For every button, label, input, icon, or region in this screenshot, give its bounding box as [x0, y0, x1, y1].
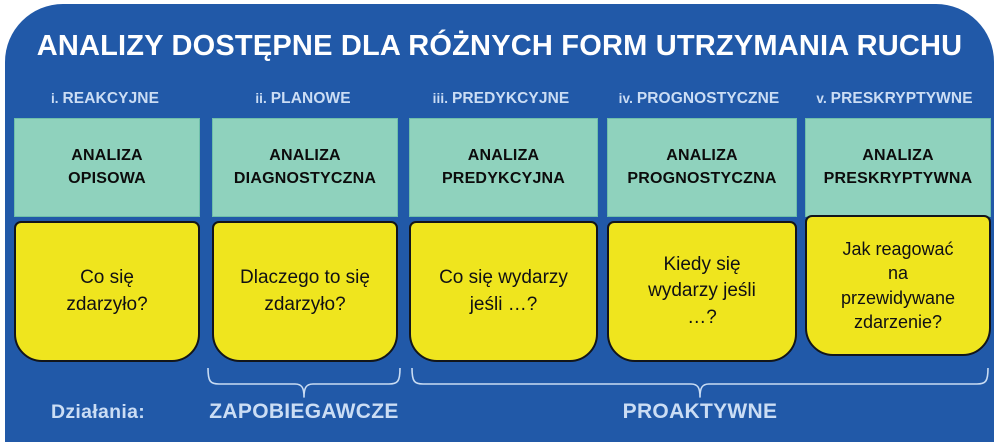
question-line-5a: Jak reagować: [842, 237, 953, 261]
analysis-label-4a: ANALIZA: [666, 145, 738, 168]
analysis-card-2: ANALIZA DIAGNOSTYCZNA: [212, 118, 398, 217]
analysis-label-5a: ANALIZA: [862, 145, 934, 168]
analysis-label-4b: PROGNOSTYCZNA: [627, 168, 776, 191]
question-line-1a: Co się: [80, 265, 134, 291]
brace-preventive: [205, 368, 403, 398]
analysis-box-3: ANALIZA PREDYKCYJNA: [409, 118, 598, 217]
question-card-1: Co się zdarzyło?: [14, 221, 200, 362]
footer-lead-label: Działania:: [51, 401, 145, 424]
column-headers: i. REAKCYJNE ii. PLANOWE iii. PREDYKCYJN…: [5, 90, 994, 114]
question-line-4a: Kiedy się: [663, 252, 740, 278]
column-numeral-3: iii.: [433, 91, 452, 106]
analysis-label-5b: PRESKRYPTYWNA: [824, 168, 973, 191]
analysis-box-4: ANALIZA PROGNOSTYCZNA: [607, 118, 797, 217]
column-header-3: iii. PREDYKCYJNE: [401, 90, 601, 108]
question-box-1: Co się zdarzyło?: [14, 221, 200, 362]
question-line-2a: Dlaczego to się: [240, 265, 370, 291]
question-line-4b: wydarzy jeśli: [648, 278, 756, 304]
footer-group-preventive: ZAPOBIEGAWCZE: [205, 400, 403, 424]
analysis-card-5: ANALIZA PRESKRYPTYWNA: [805, 118, 991, 217]
question-box-3: Co się wydarzy jeśli …?: [409, 221, 598, 362]
column-kind-1: REAKCYJNE: [63, 90, 160, 107]
brace-proactive: [409, 368, 991, 398]
analysis-label-3b: PREDYKCYJNA: [442, 168, 565, 191]
question-card-3: Co się wydarzy jeśli …?: [409, 221, 598, 362]
diagram-root: ANALIZY DOSTĘPNE DLA RÓŻNYCH FORM UTRZYM…: [0, 0, 999, 442]
analysis-box-5: ANALIZA PRESKRYPTYWNA: [805, 118, 991, 217]
analysis-label-3a: ANALIZA: [468, 145, 540, 168]
analysis-box-1: ANALIZA OPISOWA: [14, 118, 200, 217]
analysis-card-4: ANALIZA PROGNOSTYCZNA: [607, 118, 797, 217]
column-header-5: v. PRESKRYPTYWNE: [795, 90, 994, 108]
column-header-2: ii. PLANOWE: [203, 90, 403, 108]
column-numeral-4: iv.: [619, 91, 637, 106]
question-line-5b: na: [888, 261, 908, 285]
question-card-2: Dlaczego to się zdarzyło?: [212, 221, 398, 362]
question-line-2b: zdarzyło?: [264, 292, 345, 318]
column-kind-3: PREDYKCYJNE: [452, 90, 569, 107]
column-kind-4: PROGNOSTYCZNE: [637, 90, 780, 107]
analysis-card-3: ANALIZA PREDYKCYJNA: [409, 118, 598, 217]
question-line-1b: zdarzyło?: [66, 292, 147, 318]
footer-group-proactive: PROAKTYWNE: [409, 400, 991, 424]
column-numeral-5: v.: [816, 91, 830, 106]
question-line-5d: zdarzenie?: [854, 310, 942, 334]
column-header-4: iv. PROGNOSTYCZNE: [597, 90, 801, 108]
question-line-3a: Co się wydarzy: [439, 265, 568, 291]
page-title: ANALIZY DOSTĘPNE DLA RÓŻNYCH FORM UTRZYM…: [5, 30, 994, 63]
question-line-3b: jeśli …?: [470, 292, 538, 318]
analysis-card-1: ANALIZA OPISOWA: [14, 118, 200, 217]
analysis-box-2: ANALIZA DIAGNOSTYCZNA: [212, 118, 398, 217]
analysis-label-1b: OPISOWA: [68, 168, 146, 191]
question-box-5: Jak reagować na przewidywane zdarzenie?: [805, 215, 991, 356]
question-box-2: Dlaczego to się zdarzyło?: [212, 221, 398, 362]
column-header-1: i. REAKCYJNE: [5, 90, 205, 108]
main-panel: ANALIZY DOSTĘPNE DLA RÓŻNYCH FORM UTRZYM…: [5, 4, 994, 442]
analysis-label-2b: DIAGNOSTYCZNA: [234, 168, 376, 191]
question-box-4: Kiedy się wydarzy jeśli …?: [607, 221, 797, 362]
question-card-4: Kiedy się wydarzy jeśli …?: [607, 221, 797, 362]
column-kind-2: PLANOWE: [271, 90, 351, 107]
question-card-5: Jak reagować na przewidywane zdarzenie?: [805, 215, 991, 356]
column-kind-5: PRESKRYPTYWNE: [831, 90, 973, 107]
question-line-5c: przewidywane: [841, 286, 955, 310]
column-numeral-1: i.: [51, 91, 63, 106]
analysis-label-2a: ANALIZA: [269, 145, 341, 168]
analysis-label-1a: ANALIZA: [71, 145, 143, 168]
column-numeral-2: ii.: [255, 91, 270, 106]
question-line-4c: …?: [687, 305, 717, 331]
